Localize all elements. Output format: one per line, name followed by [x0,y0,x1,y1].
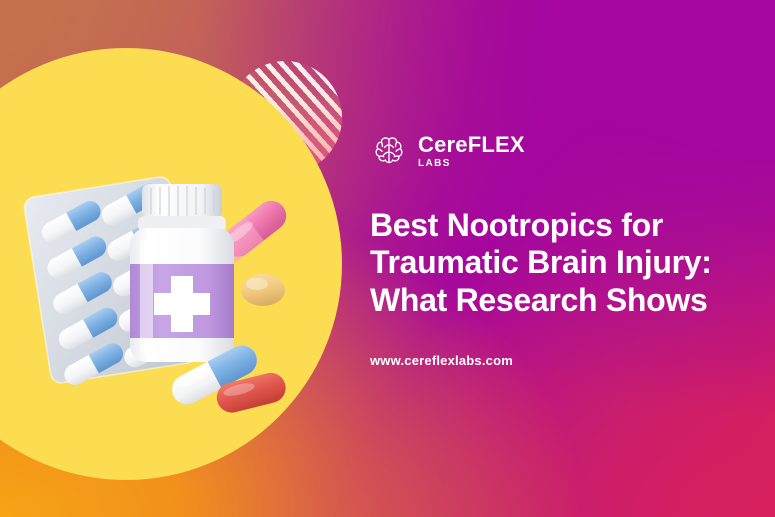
brand-wordmark: CereFLEX LABS [418,134,525,169]
promo-banner: CereFLEX LABS Best Nootropics for Trauma… [0,0,775,517]
pill-bottle [130,184,234,362]
content-column: CereFLEX LABS Best Nootropics for Trauma… [370,132,750,368]
tan-tablet [241,274,285,306]
brand-name: CereFLEX [418,134,525,156]
brand-logo: CereFLEX LABS [370,132,750,170]
website-url: www.cereflexlabs.com [370,353,750,368]
page-title: Best Nootropics for Traumatic Brain Inju… [370,207,730,319]
medicine-illustration [18,168,318,418]
brand-subtitle: LABS [418,159,525,169]
brain-icon [370,132,408,170]
